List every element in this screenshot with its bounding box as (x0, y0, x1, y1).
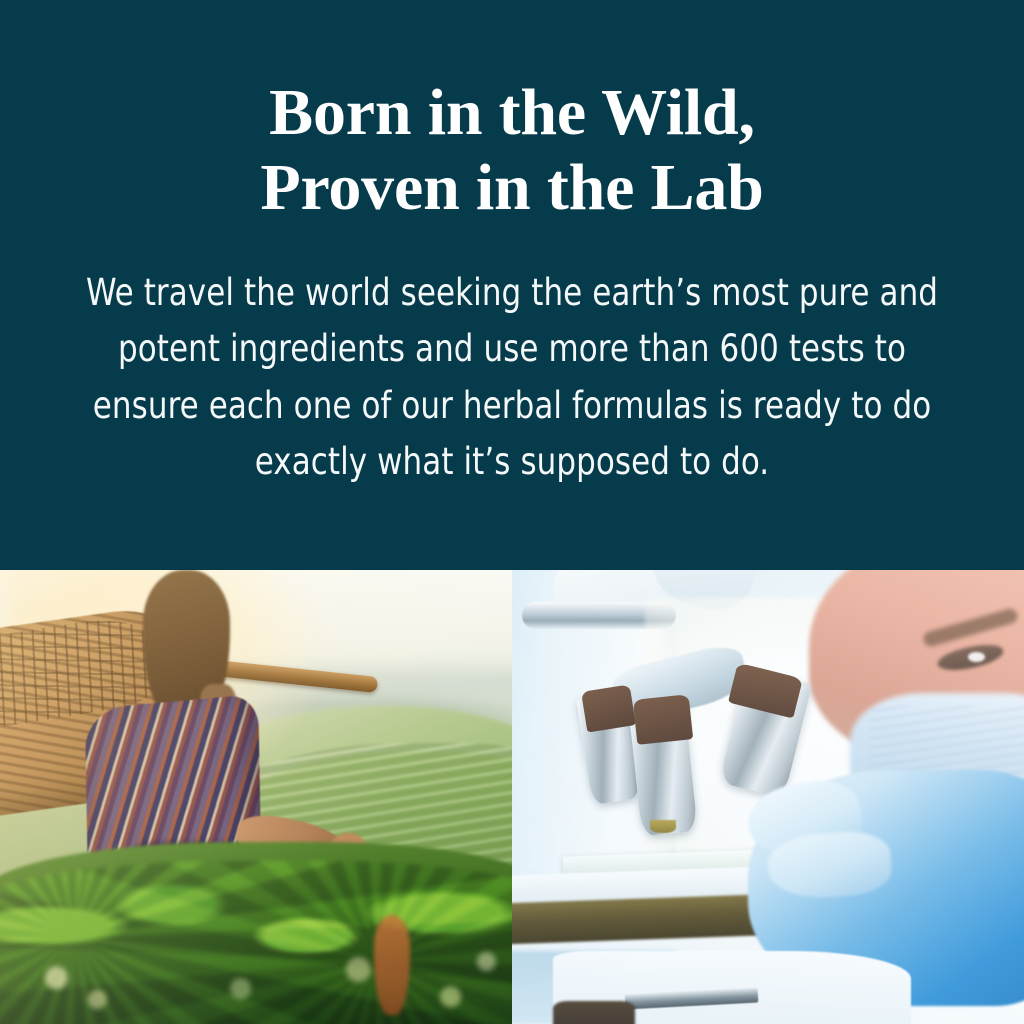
page-title: Born in the Wild, Proven in the Lab (62, 76, 962, 225)
text-panel: Born in the Wild, Proven in the Lab We t… (0, 0, 1024, 570)
image-tea-harvester (0, 570, 512, 1024)
body-paragraph: We travel the world seeking the earth’s … (84, 265, 940, 490)
headline-line-1: Born in the Wild, (62, 76, 962, 151)
objective-collar-2 (633, 694, 694, 745)
objective-collar-1 (581, 684, 635, 732)
objective-tip (650, 820, 676, 834)
eye-highlight (968, 652, 985, 662)
photo-band (0, 570, 1024, 1024)
headline-line-2: Proven in the Lab (62, 151, 962, 226)
bokeh-highlights (0, 888, 512, 1024)
promotional-banner: Born in the Wild, Proven in the Lab We t… (0, 0, 1024, 1024)
red-leaf (374, 915, 410, 1015)
image-lab-microscope (512, 570, 1024, 1024)
base-foot (553, 1001, 635, 1024)
